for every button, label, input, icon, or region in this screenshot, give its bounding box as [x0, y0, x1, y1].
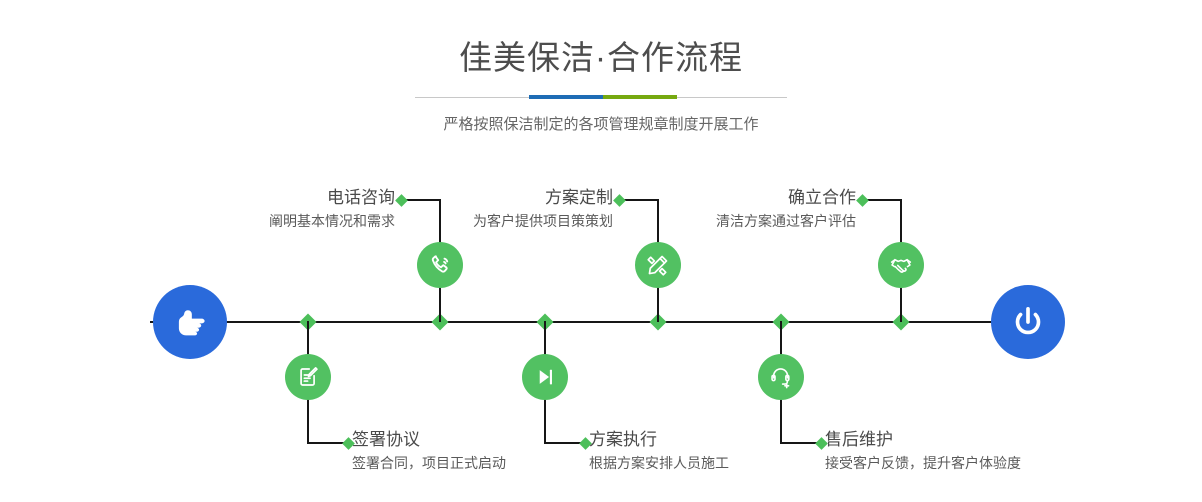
hand-pointing-icon: [169, 301, 211, 343]
step-title: 售后维护: [825, 428, 1085, 452]
step-desc: 阐明基本情况和需求: [151, 210, 395, 232]
handshake-icon: [888, 252, 914, 278]
step-label-1: 电话咨询 阐明基本情况和需求: [151, 186, 395, 232]
play-execute-icon: [532, 364, 558, 390]
step-title: 签署协议: [352, 428, 602, 452]
step-title: 方案执行: [589, 428, 839, 452]
step-title: 电话咨询: [151, 186, 395, 210]
step-icon-document-sign[interactable]: [285, 354, 331, 400]
power-icon: [1007, 301, 1049, 343]
step-label-5: 确立合作 清洁方案通过客户评估: [610, 186, 856, 232]
step-icon-customer-support[interactable]: [758, 354, 804, 400]
timeline-axis: [150, 321, 1052, 323]
step-desc: 清洁方案通过客户评估: [610, 210, 856, 232]
timeline-start-endpoint[interactable]: [153, 285, 227, 359]
step-label-4: 方案执行 根据方案安排人员施工: [589, 428, 839, 474]
connector-tip-marker: [856, 194, 869, 207]
step-icon-pencil-ruler[interactable]: [635, 242, 681, 288]
step-desc: 接受客户反馈，提升客户体验度: [825, 452, 1085, 474]
step-desc: 根据方案安排人员施工: [589, 452, 839, 474]
step-label-3: 方案定制 为客户提供项目策策划: [370, 186, 613, 232]
phone-call-icon: [427, 252, 453, 278]
timeline-end-endpoint[interactable]: [991, 285, 1065, 359]
step-title: 方案定制: [370, 186, 613, 210]
step-label-6: 售后维护 接受客户反馈，提升客户体验度: [825, 428, 1085, 474]
step-icon-phone-call[interactable]: [417, 242, 463, 288]
customer-support-icon: [768, 364, 794, 390]
step-desc: 为客户提供项目策策划: [370, 210, 613, 232]
step-title: 确立合作: [610, 186, 856, 210]
step-label-2: 签署协议 签署合同，项目正式启动: [352, 428, 602, 474]
step-icon-handshake[interactable]: [878, 242, 924, 288]
flowchart-page: 佳美保洁·合作流程 严格按照保洁制定的各项管理规章制度开展工作: [0, 0, 1202, 502]
pencil-ruler-icon: [645, 252, 671, 278]
step-desc: 签署合同，项目正式启动: [352, 452, 602, 474]
process-timeline: 电话咨询 阐明基本情况和需求 签署协议 签署合同，项目正式启动: [0, 0, 1202, 502]
document-sign-icon: [295, 364, 321, 390]
step-icon-play-execute[interactable]: [522, 354, 568, 400]
